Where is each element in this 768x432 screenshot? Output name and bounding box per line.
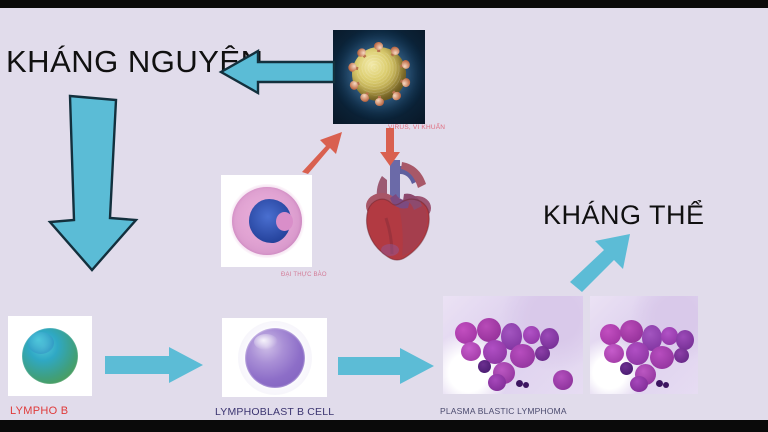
slide-canvas: KHÁNG NGUYÊN KHÁNG THỂ VIRUS, VI KHUẨN	[0, 0, 768, 432]
lymphoblast-cell-body	[245, 328, 305, 388]
arrow-antigen-down	[40, 92, 152, 274]
virion-body	[352, 47, 406, 101]
arrow-virus-to-antigen	[218, 48, 334, 96]
arrow-lymphob-to-lymphoblast	[105, 345, 205, 385]
label-lympho-b: LYMPHO B	[10, 405, 68, 417]
plasma-blastic-lymphoma-histology-1	[443, 296, 583, 394]
lymphocyte-b-cell-image	[8, 316, 92, 396]
macrophage-cytoplasm	[232, 187, 302, 255]
label-macrophage: ĐẠI THỰC BÀO	[281, 272, 327, 278]
histology-field	[590, 296, 698, 394]
arrow-macrophage-to-virus	[296, 126, 348, 176]
letterbox-top	[0, 0, 768, 8]
human-heart-anatomy-illustration	[360, 158, 438, 263]
arrow-lymphoblast-to-lymphoma	[338, 346, 436, 386]
letterbox-bottom	[0, 420, 768, 432]
virus-microscopy-image	[333, 30, 425, 124]
heading-antibody: KHÁNG THỂ	[543, 200, 705, 231]
plasma-blastic-lymphoma-histology-2	[590, 296, 698, 394]
macrophage-nucleus	[249, 199, 291, 243]
arrow-lymphoma-to-antibody	[568, 232, 636, 294]
lymphoblast-b-cell-image	[222, 318, 327, 397]
label-plasma-blastic-lymphoma: PLASMA BLASTIC LYMPHOMA	[440, 406, 567, 416]
histology-field	[443, 296, 583, 394]
label-lymphoblast-b-cell: LYMPHOBLAST B CELL	[215, 406, 334, 418]
macrophage-cell-image	[221, 175, 312, 267]
arrow-virus-to-heart	[378, 128, 402, 168]
lympho-b-cell-body	[22, 328, 78, 384]
diagram-background: KHÁNG NGUYÊN KHÁNG THỂ VIRUS, VI KHUẨN	[0, 8, 768, 420]
